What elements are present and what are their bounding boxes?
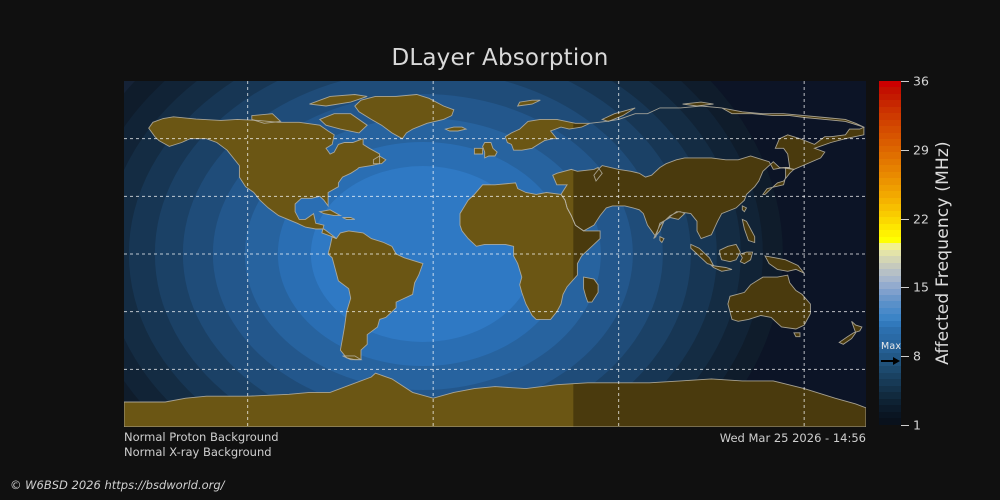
timestamp-label: Wed Mar 25 2026 - 14:56	[720, 431, 866, 445]
colorbar-tickmark-29	[901, 150, 909, 151]
max-marker-label: Max	[881, 341, 901, 352]
colorbar[interactable]	[879, 81, 901, 425]
world-map-svg	[124, 81, 866, 427]
copyright-footer: © W6BSD 2026 https://bsdworld.org/	[10, 478, 225, 492]
colorbar-tickmark-15	[901, 287, 909, 288]
page-title: DLayer Absorption	[0, 45, 1000, 71]
map-canvas[interactable]	[124, 81, 866, 427]
colorbar-tickmark-36	[901, 81, 909, 82]
colorbar-band-52	[879, 418, 901, 424]
colorbar-tickmark-22	[901, 219, 909, 220]
colorbar-ticklabel-29: 29	[913, 142, 929, 157]
proton-background-status: Normal Proton Background	[124, 430, 279, 444]
colorbar-ticklabel-36: 36	[913, 74, 929, 89]
colorbar-tickmark-8	[901, 356, 909, 357]
colorbar-title: Affected Frequency (MHz)	[932, 81, 954, 425]
colorbar-ticklabel-1: 1	[913, 418, 921, 433]
landmass-ireland	[474, 148, 482, 154]
xray-background-status: Normal X-ray Background	[124, 445, 272, 459]
colorbar-ticklabel-15: 15	[913, 280, 929, 295]
colorbar-ticklabel-22: 22	[913, 211, 929, 226]
colorbar-ticklabel-8: 8	[913, 349, 921, 364]
colorbar-tickmark-1	[901, 425, 909, 426]
app-root: DLayer Absorption 1815222936 Affected Fr…	[0, 0, 1000, 500]
